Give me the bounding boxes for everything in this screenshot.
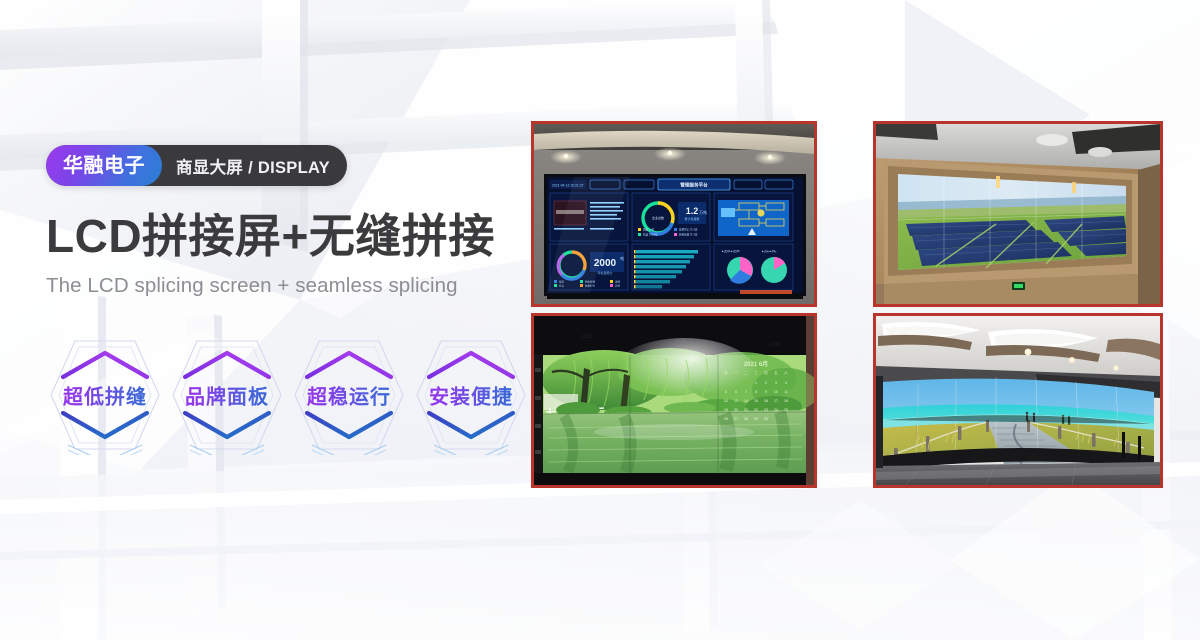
svg-text:吨: 吨 <box>620 255 624 261</box>
svg-text:■ 达标 ■ 超标: ■ 达标 ■ 超标 <box>762 249 777 253</box>
svg-text:8: 8 <box>755 390 757 394</box>
svg-text:7: 7 <box>745 390 747 394</box>
photo-artwork <box>876 124 1160 304</box>
svg-text:6: 6 <box>735 390 737 394</box>
promo-banner: 华融电子 商显大屏 / DISPLAY LCD拼接屏+无缝拼接 The LCD … <box>0 0 1200 640</box>
page-title: LCD拼接屏+无缝拼接 <box>46 213 516 261</box>
svg-text:12: 12 <box>724 399 728 403</box>
svg-text:24: 24 <box>774 408 778 412</box>
feature-badge-超低拼缝: 超低拼缝 <box>46 335 164 455</box>
brand-badge: 华融电子 商显大屏 / DISPLAY <box>46 145 347 186</box>
photo-willow-lake-wall: LCDLCDLCD <box>531 313 817 488</box>
feature-label: 超低拼缝 <box>46 381 164 410</box>
feature-badge-安装便捷: 安装便捷 <box>412 335 530 455</box>
svg-text:其他: 其他 <box>615 284 621 288</box>
svg-text:15: 15 <box>754 399 758 403</box>
feature-label: 超稳运行 <box>290 381 408 410</box>
svg-text:14: 14 <box>744 399 748 403</box>
svg-text:26: 26 <box>724 417 728 421</box>
svg-text:LCD: LCD <box>770 342 780 348</box>
svg-text:21: 21 <box>744 408 748 412</box>
svg-text:企业总数: 企业总数 <box>652 215 664 220</box>
svg-text:4: 4 <box>785 381 787 385</box>
feature-badge-超稳运行: 超稳运行 <box>290 335 408 455</box>
page-subtitle: The LCD splicing screen + seamless splic… <box>46 274 516 298</box>
feature-badge-品牌面板: 品牌面板 <box>168 335 286 455</box>
photo-control-room-dashboard: 2021-04-13 10:21:27 管理服务平台 <box>531 121 817 307</box>
svg-text:万吨: 万吨 <box>699 209 707 215</box>
photo-boardwalk-wall <box>873 313 1163 488</box>
photo-artwork: LCDLCDLCD <box>534 316 814 485</box>
svg-text:填埋: 填埋 <box>615 280 621 284</box>
svg-text:2021 6月: 2021 6月 <box>744 360 768 368</box>
svg-text:5: 5 <box>725 390 727 394</box>
svg-text:■ 类别A ■ 类别B: ■ 类别A ■ 类别B <box>722 249 740 253</box>
svg-text:25: 25 <box>784 408 788 412</box>
svg-text:22: 22 <box>754 408 758 412</box>
photo-solar-farm-wall <box>873 121 1163 307</box>
photo-artwork <box>876 316 1160 485</box>
svg-text:13: 13 <box>734 399 738 403</box>
svg-text:3: 3 <box>775 381 777 385</box>
svg-text:1: 1 <box>755 381 757 385</box>
svg-text:16: 16 <box>764 399 768 403</box>
brand-name-label: 华融电子 <box>46 145 162 186</box>
svg-text:11: 11 <box>784 390 788 394</box>
svg-text:转移处置 共 3家: 转移处置 共 3家 <box>679 233 698 237</box>
svg-text:9: 9 <box>765 390 767 394</box>
svg-text:累计处理量: 累计处理量 <box>684 216 699 221</box>
brand-category-label: 商显大屏 / DISPLAY <box>162 145 347 186</box>
feature-badge-list: 超低拼缝 品牌面板 <box>46 335 530 455</box>
svg-text:30: 30 <box>764 417 768 421</box>
photo-artwork: 2021-04-13 10:21:27 管理服务平台 <box>534 124 814 304</box>
svg-text:危废 1000吨: 危废 1000吨 <box>643 233 658 237</box>
svg-text:20: 20 <box>734 408 738 412</box>
svg-text:处理中心 共 5家: 处理中心 共 5家 <box>679 228 698 232</box>
svg-text:管理服务平台: 管理服务平台 <box>680 182 708 189</box>
svg-text:LCD: LCD <box>582 334 592 340</box>
svg-text:28: 28 <box>744 417 748 421</box>
svg-text:10: 10 <box>774 390 778 394</box>
svg-text:23: 23 <box>764 408 768 412</box>
feature-label: 品牌面板 <box>168 381 286 410</box>
svg-text:19: 19 <box>724 408 728 412</box>
svg-text:27: 27 <box>734 417 738 421</box>
svg-text:29: 29 <box>754 417 758 421</box>
svg-text:日: 日 <box>724 371 727 375</box>
svg-text:年处置能力: 年处置能力 <box>597 270 612 275</box>
banner-text-block: 华融电子 商显大屏 / DISPLAY LCD拼接屏+无缝拼接 The LCD … <box>46 145 516 298</box>
svg-text:固废 一般: 固废 一般 <box>643 228 655 232</box>
svg-text:1.2: 1.2 <box>686 206 699 216</box>
feature-label: 安装便捷 <box>412 381 530 410</box>
svg-text:17: 17 <box>774 399 778 403</box>
svg-text:18: 18 <box>784 399 788 403</box>
svg-text:2: 2 <box>765 381 767 385</box>
